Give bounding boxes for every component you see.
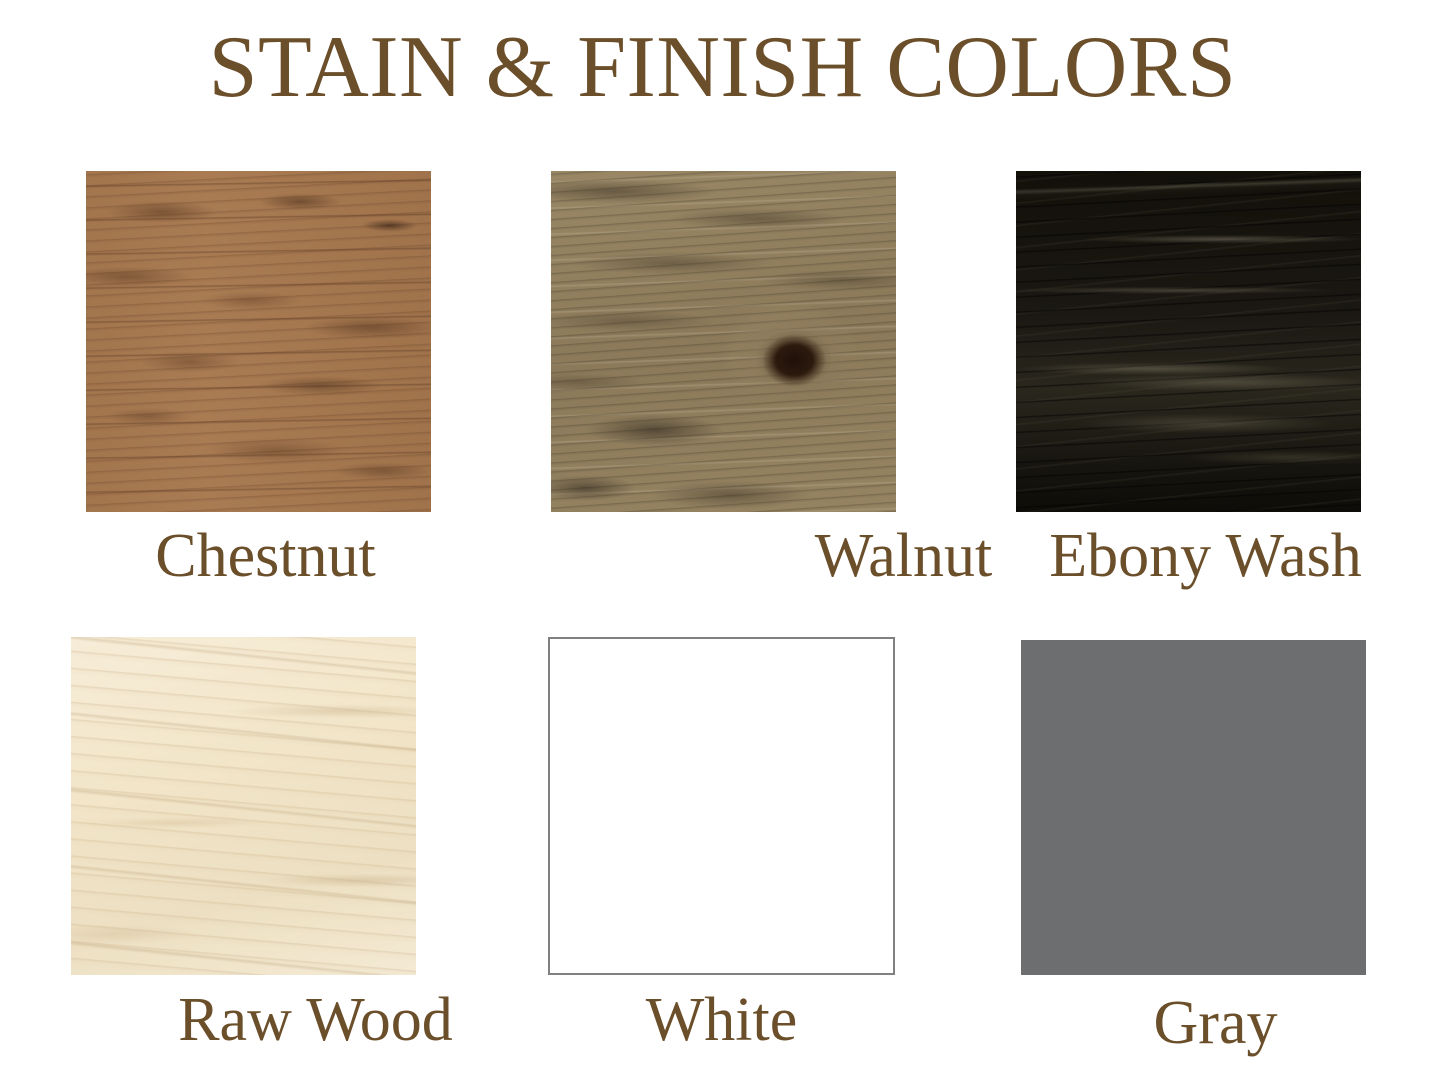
swatch-label-ebony-wash: Ebony Wash	[1049, 525, 1361, 587]
swatch-card-white[interactable]: White	[548, 637, 895, 975]
swatch-card-chestnut[interactable]: Chestnut	[86, 171, 431, 512]
swatch-card-raw-wood[interactable]: Raw Wood	[71, 637, 416, 975]
swatch-sample-gray[interactable]	[1021, 640, 1366, 975]
swatch-card-gray[interactable]: Gray	[1021, 640, 1366, 975]
swatch-card-walnut[interactable]: Walnut	[551, 171, 896, 512]
swatch-label-raw-wood: Raw Wood	[178, 989, 453, 1051]
swatch-sample-chestnut[interactable]	[86, 171, 431, 512]
swatch-sample-white[interactable]	[548, 637, 895, 975]
swatch-sample-walnut[interactable]	[551, 171, 896, 512]
swatch-label-white: White	[646, 989, 798, 1051]
swatch-sample-ebony-wash[interactable]	[1016, 171, 1361, 512]
page-title: STAIN & FINISH COLORS	[0, 22, 1445, 114]
swatch-label-walnut: Walnut	[815, 525, 993, 587]
swatch-label-gray: Gray	[1154, 992, 1278, 1054]
swatch-label-chestnut: Chestnut	[155, 525, 375, 587]
stain-finish-color-chart: STAIN & FINISH COLORS Chestnut Walnut Eb…	[0, 0, 1445, 1084]
swatch-sample-raw-wood[interactable]	[71, 637, 416, 975]
swatch-card-ebony-wash[interactable]: Ebony Wash	[1016, 171, 1361, 512]
